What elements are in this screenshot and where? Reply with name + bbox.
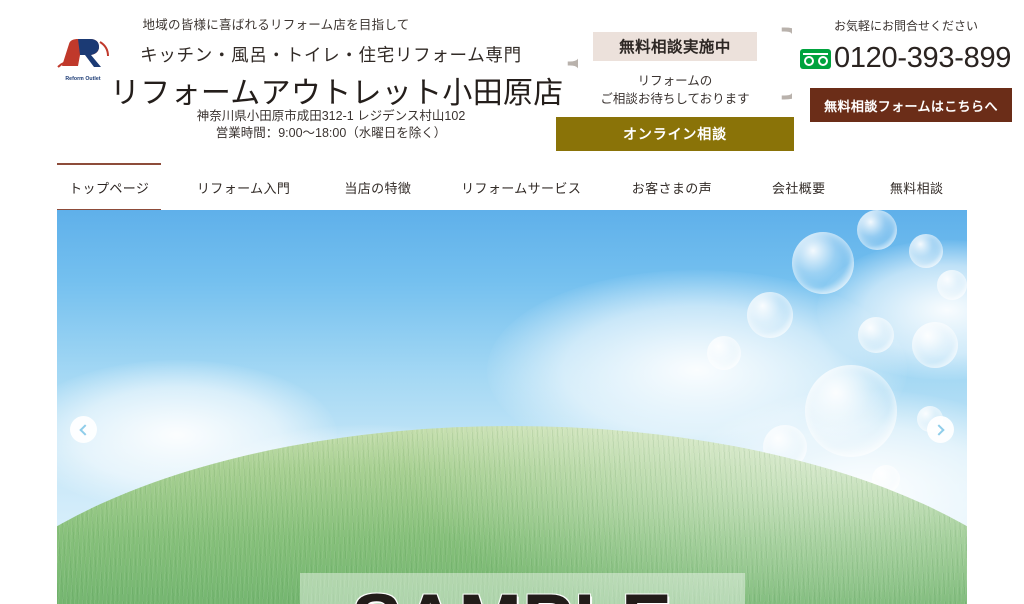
contact-lead-text: お気軽にお問合せください <box>800 17 1012 34</box>
nav-item-3[interactable]: リフォームサービス <box>448 165 595 209</box>
bubble-decoration <box>805 365 897 457</box>
bubble-decoration <box>707 336 741 370</box>
nav-item-label: 会社概要 <box>772 181 826 196</box>
nav-item-label: リフォーム入門 <box>197 181 290 196</box>
hero-carousel[interactable]: SAMPLE ここをクリックして選択 <box>57 210 967 604</box>
sample-text-backdrop <box>300 573 745 604</box>
cloud-decoration <box>57 360 337 510</box>
site-logo[interactable]: Reform Outlet <box>56 36 110 82</box>
chevron-right-icon <box>933 424 944 435</box>
reform-outlet-r-icon <box>56 36 110 70</box>
site-header: 地域の皆様に喜ばれるリフォーム店を目指して Reform Outlet キッチン… <box>0 0 1024 164</box>
nav-item-label: 当店の特徴 <box>344 181 411 196</box>
address-line-2: 営業時間：9:00〜18:00（水曜日を除く） <box>110 125 552 142</box>
bubble-decoration <box>747 292 793 338</box>
bubble-decoration <box>823 533 863 573</box>
nav-item-label: リフォームサービス <box>461 181 581 196</box>
consultation-title: 無料相談実施中 <box>593 32 757 61</box>
cloud-decoration <box>357 460 817 604</box>
page-root: 地域の皆様に喜ばれるリフォーム店を目指して Reform Outlet キッチン… <box>0 0 1024 604</box>
brand-subtitle: キッチン・風呂・トイレ・住宅リフォーム専門 <box>110 42 552 67</box>
main-navigation: トップページリフォーム入門当店の特徴リフォームサービスお客さまの声会社概要無料相… <box>0 164 1024 210</box>
carousel-next-button[interactable] <box>927 416 954 443</box>
brand-block: 地域の皆様に喜ばれるリフォーム店を目指して Reform Outlet キッチン… <box>0 0 552 164</box>
address-line-1: 神奈川県小田原市成田312-1 レジデンス村山102 <box>110 108 552 125</box>
nav-item-4[interactable]: お客さまの声 <box>610 165 733 209</box>
online-consultation-button[interactable]: オンライン相談 <box>556 117 794 151</box>
bubble-decoration <box>909 234 943 268</box>
header-tagline: 地域の皆様に喜ばれるリフォーム店を目指して <box>0 14 552 33</box>
chevron-left-icon <box>79 424 90 435</box>
consultation-body: リフォームの ご相談お待ちしております <box>572 72 778 108</box>
phone-row[interactable]: 0120-393-899 <box>800 40 1012 76</box>
nav-item-5[interactable]: 会社概要 <box>749 165 848 209</box>
free-dial-left-circle <box>804 56 814 66</box>
bubble-decoration <box>763 425 807 469</box>
logo-wordmark: Reform Outlet <box>56 76 110 82</box>
hero-sample-text: SAMPLE <box>57 582 967 604</box>
phone-number: 0120-393-899 <box>834 42 1011 74</box>
consultation-body-line-2: ご相談お待ちしております <box>572 90 778 108</box>
grass-field-decoration <box>57 426 967 604</box>
cloud-decoration <box>487 270 907 470</box>
bubble-decoration <box>937 270 967 300</box>
free-dial-icon <box>800 49 831 69</box>
cloud-decoration <box>177 425 557 595</box>
free-consultation-form-button[interactable]: 無料相談フォームはこちらへ <box>810 88 1012 122</box>
bubble-decoration <box>857 210 897 250</box>
nav-item-2[interactable]: 当店の特徴 <box>324 165 432 209</box>
nav-item-1[interactable]: リフォーム入門 <box>179 165 307 209</box>
bubble-decoration <box>858 317 894 353</box>
nav-item-6[interactable]: 無料相談 <box>866 165 967 209</box>
cloud-decoration <box>817 240 967 380</box>
bubble-decoration <box>912 322 958 368</box>
contact-block: お気軽にお問合せください 0120-393-899 無料相談フォームはこちらへ <box>800 12 1012 122</box>
free-dial-right-circle <box>818 56 828 66</box>
cloud-decoration <box>677 390 967 590</box>
brand-title: リフォームアウトレット小田原店 <box>110 68 552 112</box>
nav-item-label: お客さまの声 <box>632 181 712 196</box>
carousel-prev-button[interactable] <box>70 416 97 443</box>
bubble-decoration <box>792 232 854 294</box>
consultation-body-line-1: リフォームの <box>572 72 778 90</box>
bubble-decoration <box>872 465 900 493</box>
nav-item-label: トップページ <box>69 181 149 196</box>
consultation-card: { } 無料相談実施中 リフォームの ご相談お待ちしております オンライン相談 <box>556 14 794 154</box>
nav-item-label: 無料相談 <box>890 181 944 196</box>
brand-address: 神奈川県小田原市成田312-1 レジデンス村山102 営業時間：9:00〜18:… <box>110 108 552 142</box>
nav-item-0[interactable]: トップページ <box>57 163 161 211</box>
navigation-list: トップページリフォーム入門当店の特徴リフォームサービスお客さまの声会社概要無料相… <box>57 164 967 210</box>
